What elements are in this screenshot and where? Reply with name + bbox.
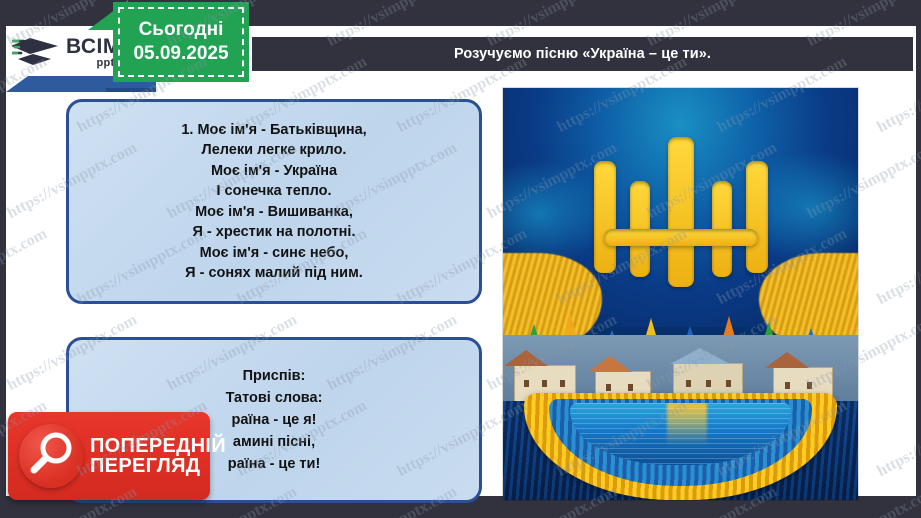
- ukraine-trident-artwork: [503, 88, 858, 500]
- chorus-line: амині пісні,: [233, 431, 315, 453]
- verse-line: Лелеки легке крило.: [202, 140, 347, 161]
- today-label: Сьогодні: [139, 18, 224, 42]
- verse-line: Моє ім'я - Вишиванка,: [195, 202, 353, 223]
- graduation-cap-icon: [12, 32, 64, 72]
- chorus-line: Татові слова:: [226, 387, 323, 409]
- verse-line: Я - сонях малий під ним.: [185, 263, 363, 284]
- verse-line: Моє ім'я - Україна: [211, 161, 337, 182]
- preview-line-1: ПОПЕРЕДНІЙ: [90, 436, 226, 456]
- trident-emblem-icon: [586, 137, 776, 287]
- chorus-line: раїна - це ти!: [228, 453, 321, 475]
- verse-line: Моє ім'я - синє небо,: [200, 243, 349, 264]
- right-frame-band: [916, 0, 921, 518]
- chorus-line: раїна - це я!: [231, 409, 316, 431]
- slide-title-bar: Розучуємо пісню «Україна – це ти».: [252, 37, 913, 71]
- verse-line: І сонечка тепло.: [216, 181, 331, 202]
- preview-watermark-badge: ПОПЕРЕДНІЙ ПЕРЕГЛЯД: [8, 412, 210, 500]
- page-title: Розучуємо пісню «Україна – це ти».: [454, 46, 711, 62]
- slide-canvas: ВСІМ pptx Сьогодні 05.09.2025 Розучуємо …: [0, 0, 921, 518]
- verse-line: 1. Моє ім'я - Батьківщина,: [181, 120, 366, 141]
- magnifier-icon: [19, 424, 83, 488]
- today-date-badge: Сьогодні 05.09.2025: [113, 2, 249, 82]
- watermark-text: https://vsimpptx.com: [0, 225, 50, 309]
- preview-line-2: ПЕРЕГЛЯД: [90, 456, 226, 476]
- today-date: 05.09.2025: [133, 42, 228, 66]
- verse-text-box: 1. Моє ім'я - Батьківщина, Лелеки легке …: [66, 99, 482, 304]
- chorus-line: Приспів:: [243, 365, 306, 387]
- watermark-text: https://vsimpptx.com: [874, 397, 921, 481]
- verse-line: Я - хрестик на полотні.: [192, 222, 355, 243]
- watermark-text: https://vsimpptx.com: [874, 225, 921, 309]
- lake-water: [570, 403, 790, 465]
